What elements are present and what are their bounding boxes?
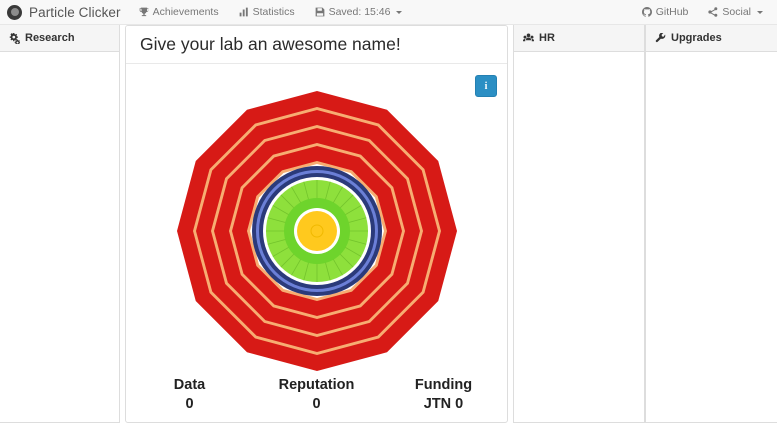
nav-item-social[interactable]: Social bbox=[698, 0, 773, 25]
nav-item-label: Saved: 15:46 bbox=[329, 6, 391, 18]
navbar-right-links: GitHub Social bbox=[632, 0, 777, 25]
column-upgrades: Upgrades bbox=[645, 25, 777, 423]
detector-container[interactable] bbox=[126, 86, 507, 376]
floppy-disk-icon bbox=[315, 7, 325, 17]
users-icon bbox=[523, 33, 534, 44]
particle-circle-icon bbox=[7, 5, 22, 20]
cogs-icon bbox=[9, 33, 20, 44]
panel-hr-title: HR bbox=[539, 32, 555, 44]
nav-item-saved[interactable]: Saved: 15:46 bbox=[305, 0, 413, 25]
panel-research-body bbox=[0, 52, 119, 422]
detector-layer-beam-core-gold bbox=[297, 211, 337, 251]
nav-item-statistics[interactable]: Statistics bbox=[229, 0, 305, 25]
brand-link[interactable]: Particle Clicker bbox=[0, 0, 129, 25]
stat-label: Data bbox=[126, 376, 253, 395]
column-research: Research bbox=[0, 25, 120, 423]
wrench-icon bbox=[655, 33, 666, 44]
panel-hr: HR bbox=[513, 25, 645, 423]
stat-funding: Funding JTN 0 bbox=[380, 376, 507, 414]
nav-item-github[interactable]: GitHub bbox=[632, 0, 699, 25]
panel-upgrades-body bbox=[646, 52, 777, 422]
chevron-down-icon bbox=[396, 11, 402, 14]
panel-upgrades-title: Upgrades bbox=[671, 32, 722, 44]
bar-chart-icon bbox=[239, 7, 249, 17]
stat-label: Reputation bbox=[253, 376, 380, 395]
panel-upgrades-heading: Upgrades bbox=[646, 25, 777, 52]
panel-hr-heading: HR bbox=[514, 25, 644, 52]
main-columns: Research Give your lab an awesome name! … bbox=[0, 25, 777, 423]
panel-research-heading: Research bbox=[0, 25, 119, 52]
trophy-icon bbox=[139, 7, 149, 17]
panel-hr-body bbox=[514, 52, 644, 422]
stat-value: 0 bbox=[253, 395, 380, 414]
column-main: Give your lab an awesome name! i Data 0 … bbox=[120, 25, 513, 423]
lab-stats-row: Data 0 Reputation 0 Funding JTN 0 bbox=[126, 376, 507, 414]
github-icon bbox=[642, 7, 652, 17]
nav-item-label: GitHub bbox=[656, 6, 689, 18]
panel-lab-body: i Data 0 Reputation 0 Funding bbox=[126, 64, 507, 422]
brand-label: Particle Clicker bbox=[29, 5, 121, 20]
nav-item-achievements[interactable]: Achievements bbox=[129, 0, 229, 25]
chevron-down-icon bbox=[757, 11, 763, 14]
column-hr: HR bbox=[513, 25, 645, 423]
top-navbar: Particle Clicker Achievements Statistics bbox=[0, 0, 777, 25]
stat-label: Funding bbox=[380, 376, 507, 395]
panel-research: Research bbox=[0, 25, 120, 423]
panel-lab-heading: Give your lab an awesome name! bbox=[126, 26, 507, 64]
particle-detector-diagram[interactable] bbox=[157, 81, 477, 381]
share-icon bbox=[708, 7, 718, 17]
panel-research-title: Research bbox=[25, 32, 75, 44]
stat-reputation: Reputation 0 bbox=[253, 376, 380, 414]
nav-item-label: Social bbox=[722, 6, 751, 18]
nav-item-label: Achievements bbox=[153, 6, 219, 18]
lab-name-title[interactable]: Give your lab an awesome name! bbox=[140, 34, 401, 55]
panel-upgrades: Upgrades bbox=[645, 25, 777, 423]
panel-lab: Give your lab an awesome name! i Data 0 … bbox=[125, 25, 508, 423]
nav-item-label: Statistics bbox=[253, 6, 295, 18]
navbar-left-links: Achievements Statistics Saved: 15:46 bbox=[129, 0, 413, 25]
stat-value: JTN 0 bbox=[380, 395, 507, 414]
stat-data: Data 0 bbox=[126, 376, 253, 414]
stat-value: 0 bbox=[126, 395, 253, 414]
